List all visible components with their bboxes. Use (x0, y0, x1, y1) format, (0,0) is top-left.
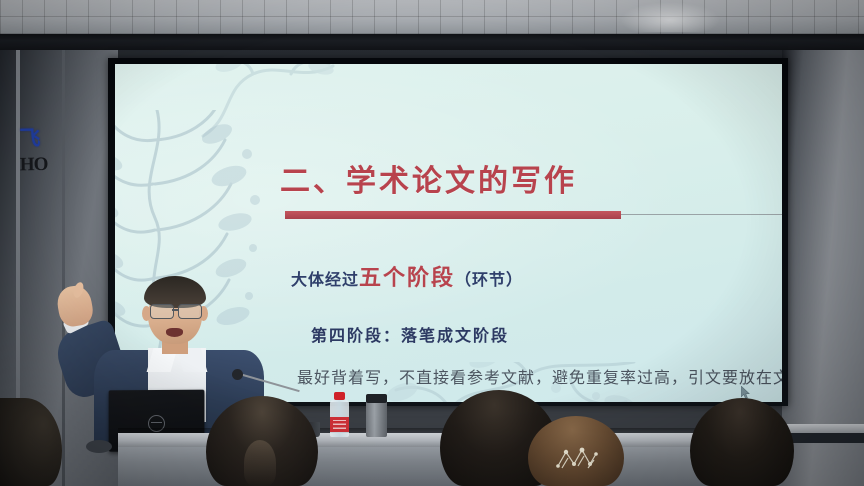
thermos-lid (366, 394, 387, 403)
slide-title-rule-red (285, 211, 621, 219)
water-bottle-label (330, 417, 349, 432)
slide-title-rule-thin (621, 214, 782, 215)
eyeglasses-lens-right (178, 304, 202, 319)
slide-line-one-suffix: （环节） (455, 272, 523, 289)
computer-mouse (86, 440, 112, 453)
slide-line-one: 大体经过五个阶段（环节） (291, 260, 523, 292)
slide-title: 二、学术论文的写作 (280, 156, 577, 200)
ceiling-light-glare (620, 2, 720, 32)
slide-line-one-highlight: 五个阶段 (359, 265, 455, 290)
water-bottle-cap (334, 392, 345, 400)
water-bottle (330, 392, 349, 437)
wall-logo: 飞 HO (19, 128, 63, 221)
student-hair (690, 398, 794, 486)
eyeglasses-bridge (172, 309, 178, 311)
eyeglasses-lens-left (150, 304, 174, 319)
hair-clip-ornament-icon (554, 444, 598, 470)
slide-body-line-1: 最好背着写，不直接看参考文献，避免重复率过高，引文要放在文中括号 (297, 364, 782, 388)
presenter-mouth (166, 328, 183, 337)
lecture-hall-scene: 飞 HO (0, 0, 864, 486)
student-head (528, 416, 624, 486)
slide-line-one-prefix: 大体经过 (291, 272, 359, 289)
ceiling-beam (0, 34, 864, 50)
right-wall-rail (782, 424, 864, 433)
right-wall (782, 50, 864, 486)
student-head (690, 398, 794, 486)
student-hair-strand (244, 440, 276, 486)
wall-logo-sub: HO (20, 154, 62, 177)
student-head (206, 396, 318, 486)
right-wall-baseboard (782, 433, 864, 443)
floral-watermark-top (193, 64, 373, 138)
slide-stage-heading: 第四阶段：落笔成文阶段 (311, 322, 509, 346)
microphone-head (232, 369, 243, 380)
wall-logo-mark: 飞 (19, 128, 61, 149)
ceiling-tiles (0, 0, 864, 34)
